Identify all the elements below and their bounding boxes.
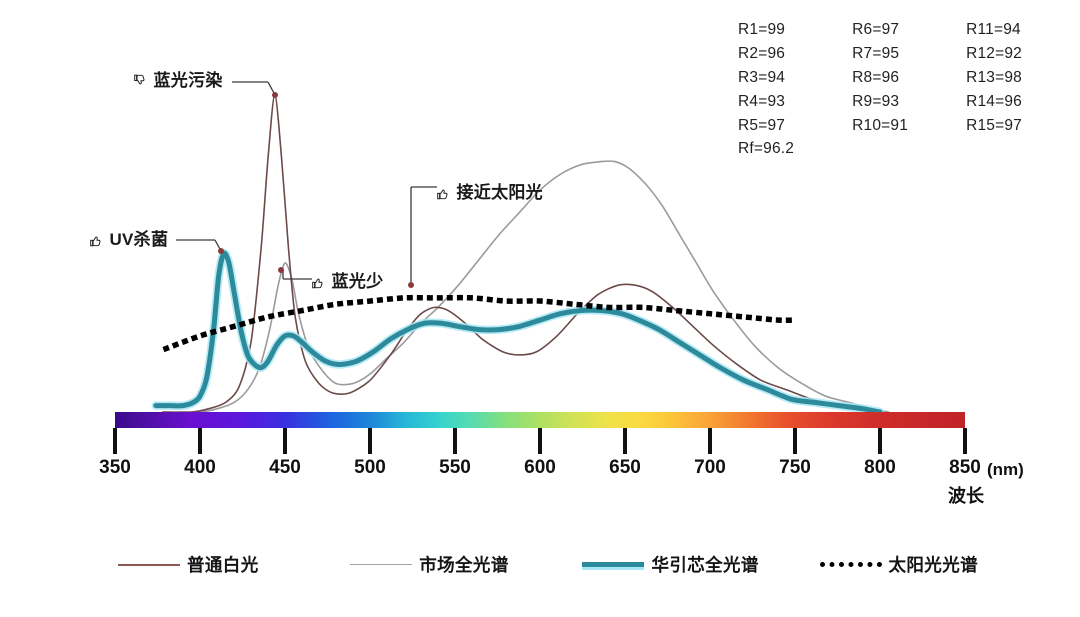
axis-tick-label-550: 550 bbox=[439, 457, 471, 479]
spectrum-chart-page: R1=99R2=96R3=94R4=93R5=97Rf=96.2R6=97R7=… bbox=[0, 0, 1080, 617]
annotation-near-sunlight: 接近太阳光 bbox=[437, 178, 543, 203]
legend-label-3: 华引芯全光谱 bbox=[651, 552, 758, 577]
thumb-up-icon bbox=[312, 274, 330, 291]
legend-swatch-1 bbox=[118, 564, 180, 566]
chart-legend: 普通白光市场全光谱华引芯全光谱太阳光光谱 bbox=[118, 552, 978, 577]
axis-title-wavelength: 波长 bbox=[948, 482, 984, 508]
axis-tick-label-850: 850 bbox=[949, 457, 981, 479]
annotation-less-blue-light: 蓝光少 bbox=[312, 267, 383, 292]
legend-item-2[interactable]: 市场全光谱 bbox=[350, 552, 582, 577]
legend-label-1: 普通白光 bbox=[187, 552, 259, 577]
annotation-less-blue-light-label: 蓝光少 bbox=[331, 272, 383, 291]
annotation-uv-sterilization-label: UV杀菌 bbox=[109, 230, 168, 249]
leader-endpoint-dot-less-blue bbox=[278, 267, 284, 273]
axis-tick-label-700: 700 bbox=[694, 457, 726, 479]
legend-label-4: 太阳光光谱 bbox=[889, 552, 979, 577]
annotation-blue-light-pollution: 蓝光污染 bbox=[134, 66, 223, 91]
axis-tick-label-600: 600 bbox=[524, 457, 556, 479]
annotation-near-sunlight-label: 接近太阳光 bbox=[456, 183, 543, 202]
axis-unit-label: (nm) bbox=[987, 460, 1024, 480]
curves-layer bbox=[156, 95, 889, 412]
annotation-blue-light-pollution-label: 蓝光污染 bbox=[153, 71, 222, 90]
axis-tick-label-350: 350 bbox=[99, 457, 131, 479]
curve-sunlight-spectrum bbox=[166, 298, 795, 349]
legend-item-3[interactable]: 华引芯全光谱 bbox=[582, 552, 819, 577]
leader-endpoint-dot-near-sunlight bbox=[408, 282, 414, 288]
spectrum-chart-svg bbox=[0, 0, 1080, 617]
leader-endpoint-dot-uv-sterilize bbox=[218, 248, 224, 254]
thumb-down-icon bbox=[134, 73, 152, 90]
legend-item-1[interactable]: 普通白光 bbox=[118, 552, 350, 577]
legend-swatch-4 bbox=[820, 562, 882, 567]
curve-glow-huayinxin-full-spectrum bbox=[156, 253, 880, 412]
legend-swatch-2 bbox=[350, 564, 412, 565]
axis-tick-label-500: 500 bbox=[354, 457, 386, 479]
axis-tick-label-400: 400 bbox=[184, 457, 216, 479]
legend-item-4[interactable]: 太阳光光谱 bbox=[820, 552, 979, 577]
legend-swatch-3 bbox=[582, 562, 644, 567]
visible-spectrum-bar bbox=[115, 412, 965, 428]
axis-tick-label-800: 800 bbox=[864, 457, 896, 479]
axis-tick-label-750: 750 bbox=[779, 457, 811, 479]
legend-label-2: 市场全光谱 bbox=[419, 552, 509, 577]
axis-tick-label-450: 450 bbox=[269, 457, 301, 479]
thumb-up-icon bbox=[90, 232, 108, 249]
axis-tick-label-650: 650 bbox=[609, 457, 641, 479]
annotation-uv-sterilization: UV杀菌 bbox=[90, 225, 168, 250]
leader-endpoint-dot-blue-pollution bbox=[272, 92, 278, 98]
thumb-up-icon bbox=[437, 185, 455, 202]
annotation-leaders-layer bbox=[176, 82, 437, 288]
axis-layer bbox=[115, 412, 965, 454]
